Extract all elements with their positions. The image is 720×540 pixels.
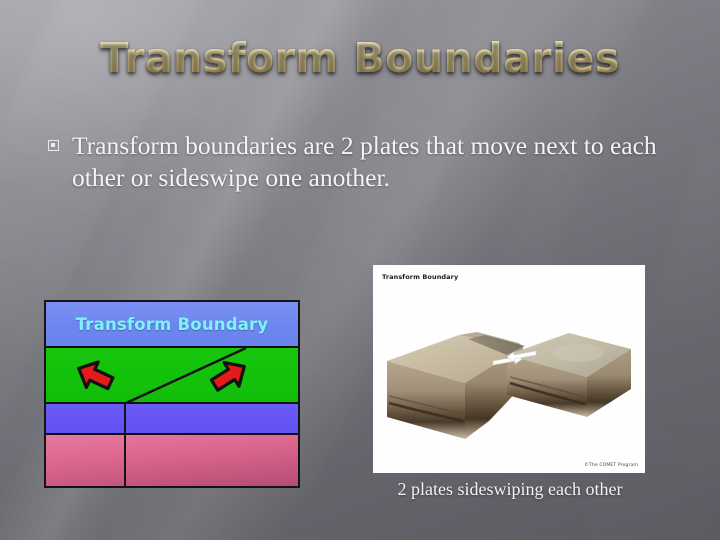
figure-caption: 2 plates sideswiping each other xyxy=(350,479,670,500)
slide-canvas: Transform Boundaries Transform boundarie… xyxy=(0,0,720,540)
crust-band xyxy=(46,404,298,435)
bullet-item-text: Transform boundaries are 2 plates that m… xyxy=(72,130,658,193)
slide-title: Transform Boundaries xyxy=(0,34,720,82)
block-diagram-illustration xyxy=(373,265,645,473)
schematic-header-label: Transform Boundary xyxy=(76,315,269,334)
square-bullet-icon xyxy=(48,140,59,151)
body-content: Transform boundaries are 2 plates that m… xyxy=(48,130,658,193)
bullet-item: Transform boundaries are 2 plates that m… xyxy=(48,130,658,193)
arrow-right-up-icon xyxy=(206,356,252,396)
sky-band: Transform Boundary xyxy=(46,302,298,348)
vertical-fault-line xyxy=(124,404,126,486)
photo-credit: ©The COMET Program xyxy=(584,463,638,468)
transform-boundary-schematic: Transform Boundary xyxy=(44,300,300,488)
mantle-band xyxy=(46,435,298,486)
transform-boundary-block-photo: Transform Boundary xyxy=(373,265,645,473)
arrow-left-down-icon xyxy=(72,356,118,396)
